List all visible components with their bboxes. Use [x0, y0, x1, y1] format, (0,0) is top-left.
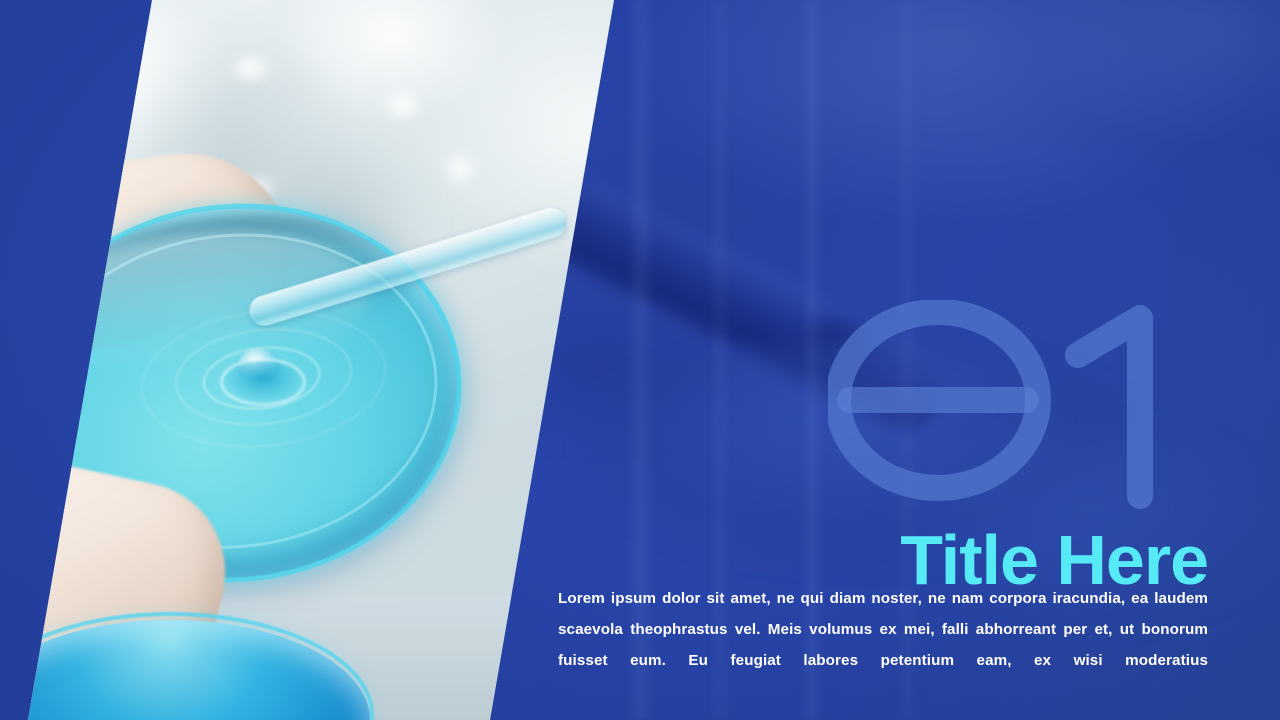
watermark-one-digit — [1078, 318, 1140, 496]
photo-highlight-3 — [440, 150, 480, 188]
liquid-drop-splash — [220, 358, 306, 406]
presentation-slide: Title Here Lorem ipsum dolor sit amet, n… — [0, 0, 1280, 720]
watermark-number-01 — [828, 300, 1208, 515]
photo-highlight-4 — [375, 90, 429, 120]
body-paragraph: Lorem ipsum dolor sit amet, ne qui diam … — [558, 583, 1208, 676]
photo-highlight-1 — [220, 55, 282, 81]
